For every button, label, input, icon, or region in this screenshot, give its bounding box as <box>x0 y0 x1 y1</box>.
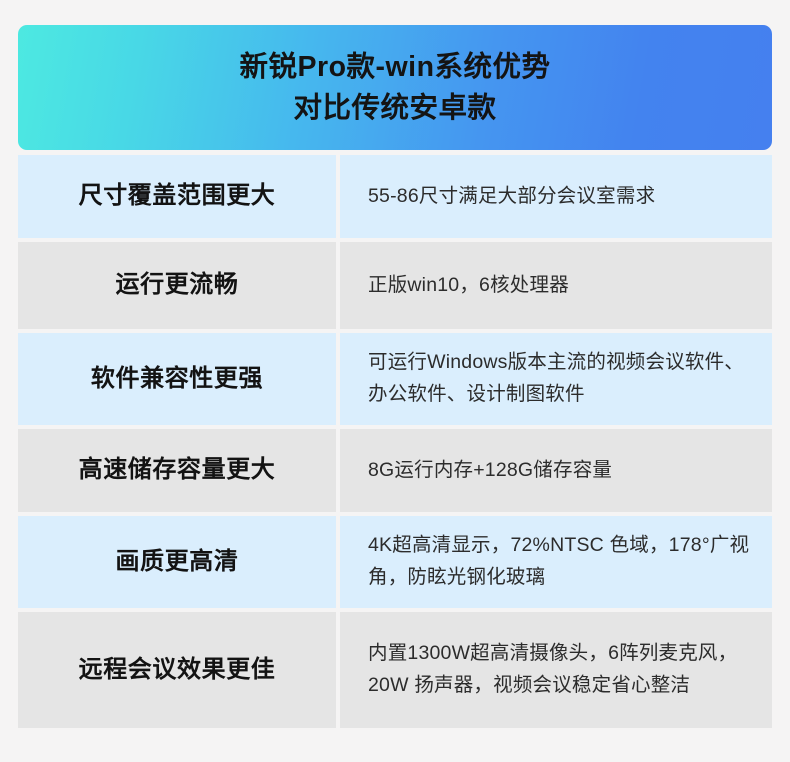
feature-label-cell: 软件兼容性更强 <box>18 333 336 425</box>
feature-description-text: 可运行Windows版本主流的视频会议软件、办公软件、设计制图软件 <box>368 347 756 410</box>
feature-label-text: 尺寸覆盖范围更大 <box>79 180 276 212</box>
feature-label-text: 运行更流畅 <box>116 269 239 301</box>
banner-title-line-2: 对比传统安卓款 <box>293 88 496 128</box>
feature-description-cell: 正版win10，6核处理器 <box>340 242 772 329</box>
feature-label-text: 软件兼容性更强 <box>91 363 263 395</box>
feature-description-cell: 55-86尺寸满足大部分会议室需求 <box>340 155 772 238</box>
comparison-table: 尺寸覆盖范围更大 55-86尺寸满足大部分会议室需求 运行更流畅 正版win10… <box>18 155 772 728</box>
feature-label-text: 画质更高清 <box>116 546 239 578</box>
feature-description-text: 55-86尺寸满足大部分会议室需求 <box>368 181 655 213</box>
feature-label-cell: 远程会议效果更佳 <box>18 612 336 728</box>
feature-description-cell: 可运行Windows版本主流的视频会议软件、办公软件、设计制图软件 <box>340 333 772 425</box>
feature-label-cell: 尺寸覆盖范围更大 <box>18 155 336 238</box>
table-row: 软件兼容性更强 可运行Windows版本主流的视频会议软件、办公软件、设计制图软… <box>18 333 772 425</box>
feature-description-cell: 8G运行内存+128G储存容量 <box>340 429 772 512</box>
feature-description-text: 8G运行内存+128G储存容量 <box>368 455 612 487</box>
feature-label-cell: 高速储存容量更大 <box>18 429 336 512</box>
feature-label-cell: 运行更流畅 <box>18 242 336 329</box>
feature-label-text: 高速储存容量更大 <box>79 454 276 486</box>
table-row: 远程会议效果更佳 内置1300W超高清摄像头，6阵列麦克风，20W 扬声器，视频… <box>18 612 772 728</box>
banner-title-line-1: 新锐Pro款-win系统优势 <box>240 47 551 87</box>
feature-description-text: 正版win10，6核处理器 <box>368 270 569 302</box>
table-row: 画质更高清 4K超高清显示，72%NTSC 色域，178°广视角，防眩光钢化玻璃 <box>18 516 772 608</box>
feature-description-cell: 4K超高清显示，72%NTSC 色域，178°广视角，防眩光钢化玻璃 <box>340 516 772 608</box>
table-row: 运行更流畅 正版win10，6核处理器 <box>18 242 772 329</box>
feature-label-text: 远程会议效果更佳 <box>79 654 276 686</box>
table-row: 高速储存容量更大 8G运行内存+128G储存容量 <box>18 429 772 512</box>
feature-description-text: 内置1300W超高清摄像头，6阵列麦克风，20W 扬声器，视频会议稳定省心整洁 <box>368 638 756 701</box>
comparison-poster: 新锐Pro款-win系统优势 对比传统安卓款 尺寸覆盖范围更大 55-86尺寸满… <box>0 0 790 762</box>
feature-description-cell: 内置1300W超高清摄像头，6阵列麦克风，20W 扬声器，视频会议稳定省心整洁 <box>340 612 772 728</box>
feature-description-text: 4K超高清显示，72%NTSC 色域，178°广视角，防眩光钢化玻璃 <box>368 530 756 593</box>
table-row: 尺寸覆盖范围更大 55-86尺寸满足大部分会议室需求 <box>18 155 772 238</box>
feature-label-cell: 画质更高清 <box>18 516 336 608</box>
poster-header-banner: 新锐Pro款-win系统优势 对比传统安卓款 <box>18 25 772 150</box>
